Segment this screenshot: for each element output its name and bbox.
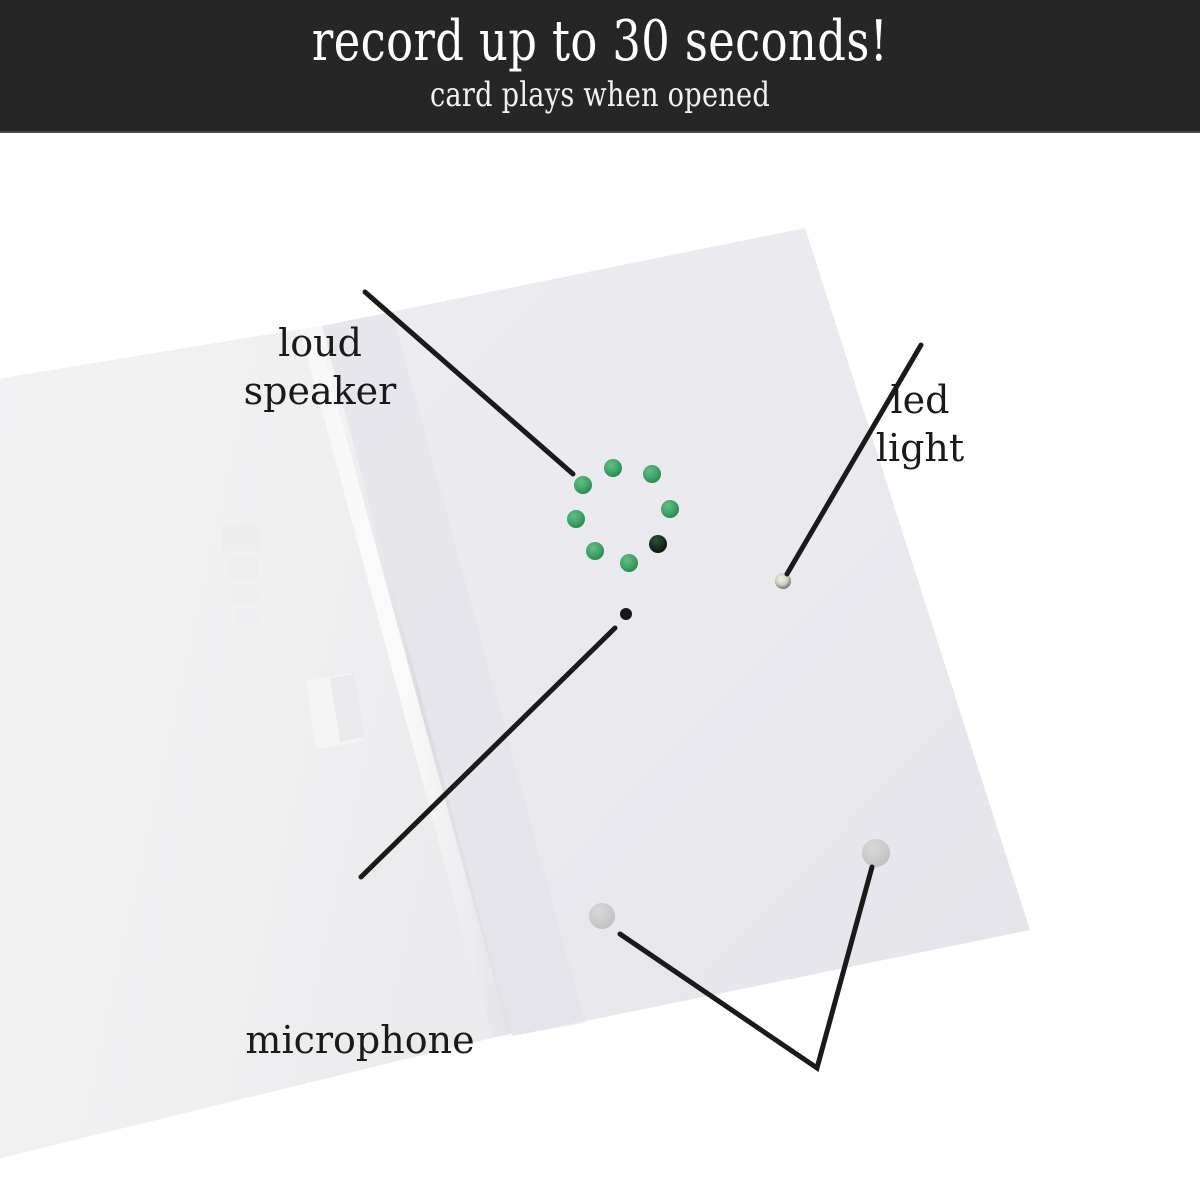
speaker-dot — [586, 542, 604, 560]
led-light-highlight — [778, 576, 784, 582]
screenshot-root: record up to 30 seconds! card plays when… — [0, 0, 1200, 1200]
speaker-dot — [567, 510, 585, 528]
speaker-dot-dark — [649, 535, 667, 553]
speaker-dot — [620, 554, 638, 572]
callout-loudspeaker: loud speaker — [150, 319, 490, 415]
record-button-right[interactable] — [862, 839, 890, 867]
microphone-dot — [620, 608, 632, 620]
banner-subtitle: card plays when opened — [120, 76, 1080, 114]
callout-ledlight-line1: led — [800, 376, 1040, 424]
header-banner: record up to 30 seconds! card plays when… — [0, 0, 1200, 133]
callout-loudspeaker-line1: loud — [150, 319, 490, 367]
callout-microphone-line1: microphone — [150, 1017, 570, 1063]
product-photo: loud speaker led light microphone record… — [0, 133, 1200, 1200]
record-button-left[interactable] — [589, 903, 615, 929]
callout-loudspeaker-line2: speaker — [150, 367, 490, 415]
speaker-dot — [604, 459, 622, 477]
speaker-dot — [661, 500, 679, 518]
callout-ledlight: led light — [800, 376, 1040, 472]
callout-microphone: microphone — [150, 1017, 570, 1063]
banner-title: record up to 30 seconds! — [120, 12, 1080, 72]
speaker-dot — [574, 476, 592, 494]
callout-ledlight-line2: light — [800, 424, 1040, 472]
spine-tab — [306, 673, 364, 749]
microphone-hole — [620, 608, 632, 620]
speaker-dot — [643, 465, 661, 483]
